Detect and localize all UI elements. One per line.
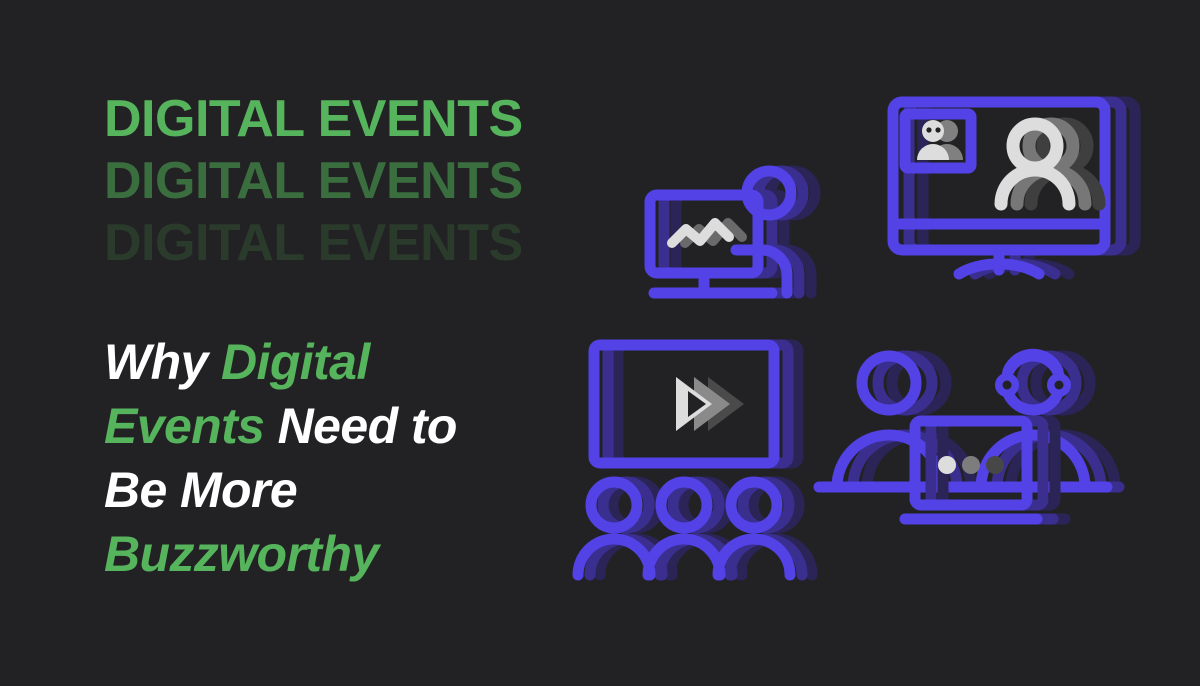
kicker-stack: DIGITAL EVENTS DIGITAL EVENTS DIGITAL EV… [104, 88, 584, 274]
typing-dot-3 [986, 456, 1004, 474]
headline-part-1: Why [104, 334, 221, 390]
kicker-line-3: DIGITAL EVENTS [104, 212, 584, 274]
typing-dots [938, 456, 1004, 474]
illustration-audience-screen [570, 335, 820, 595]
illustration-presenter-monitor [620, 155, 870, 355]
kicker-line-2: DIGITAL EVENTS [104, 150, 584, 212]
kicker-line-1: DIGITAL EVENTS [104, 88, 584, 150]
page-title: Why Digital Events Need to Be More Buzzw… [104, 274, 494, 586]
typing-dot-2 [962, 456, 980, 474]
illustration-chat-laptop [815, 335, 1135, 555]
pip-head [922, 120, 944, 142]
digital-events-banner: DIGITAL EVENTS DIGITAL EVENTS DIGITAL EV… [0, 0, 1200, 686]
illustration-webinar-screen [875, 78, 1145, 308]
text-column: DIGITAL EVENTS DIGITAL EVENTS DIGITAL EV… [104, 88, 604, 586]
headline-part-4-green: Buzzworthy [104, 526, 379, 582]
typing-dot-1 [938, 456, 956, 474]
illustration-group [560, 60, 1180, 630]
